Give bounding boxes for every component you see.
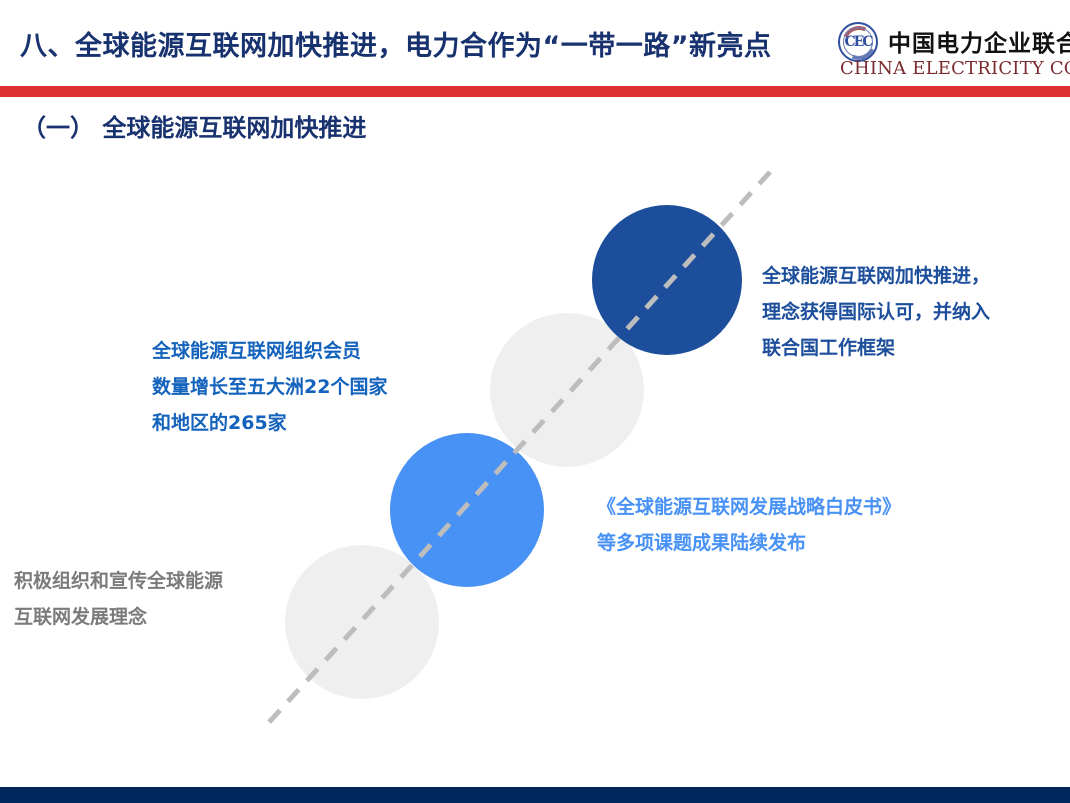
cec-emblem-icon: CEC: [838, 22, 878, 62]
callout-2-line-2: 数量增长至五大洲22个国家: [152, 369, 387, 405]
diagram-canvas: [0, 150, 1070, 750]
brand-name-cn: 中国电力企业联合会: [888, 24, 1070, 58]
slide-header: 八、全球能源互联网加快推进，电力合作为“一带一路”新亮点 CEC 中国电力企业联…: [0, 0, 1070, 86]
callout-4-line-2: 互联网发展理念: [14, 599, 223, 635]
brand-name-en: CHINA ELECTRICITY COUNCIL: [840, 58, 1070, 79]
callout-text-2: 全球能源互联网组织会员 数量增长至五大洲22个国家 和地区的265家: [152, 333, 387, 441]
header-red-rule: [0, 86, 1070, 97]
callout-1-line-3: 联合国工作框架: [762, 330, 990, 366]
callout-4-line-1: 积极组织和宣传全球能源: [14, 563, 223, 599]
callout-1-line-1: 全球能源互联网加快推进，: [762, 258, 990, 294]
brand-logo: CEC 中国电力企业联合会 CHINA ELECTRICITY COUNCIL: [838, 20, 1060, 82]
page-title: 八、全球能源互联网加快推进，电力合作为“一带一路”新亮点: [20, 24, 772, 63]
callout-text-1: 全球能源互联网加快推进， 理念获得国际认可，并纳入 联合国工作框架: [762, 258, 990, 366]
callout-3-line-1: 《全球能源互联网发展战略白皮书》: [597, 489, 901, 525]
diagram-split-circles: [0, 150, 1070, 750]
circle-3-filled-half: [390, 433, 544, 587]
callout-2-line-3: 和地区的265家: [152, 405, 387, 441]
callout-text-4: 积极组织和宣传全球能源 互联网发展理念: [14, 563, 223, 635]
emblem-letters: CEC: [840, 24, 876, 60]
callout-1-line-2: 理念获得国际认可，并纳入: [762, 294, 990, 330]
callout-3-line-2: 等多项课题成果陆续发布: [597, 525, 901, 561]
section-heading: （一） 全球能源互联网加快推进: [22, 108, 366, 143]
callout-2-line-1: 全球能源互联网组织会员: [152, 333, 387, 369]
footer-navy-bar: [0, 787, 1070, 803]
callout-text-3: 《全球能源互联网发展战略白皮书》 等多项课题成果陆续发布: [597, 489, 901, 561]
circle-1-filled-half: [592, 205, 742, 355]
